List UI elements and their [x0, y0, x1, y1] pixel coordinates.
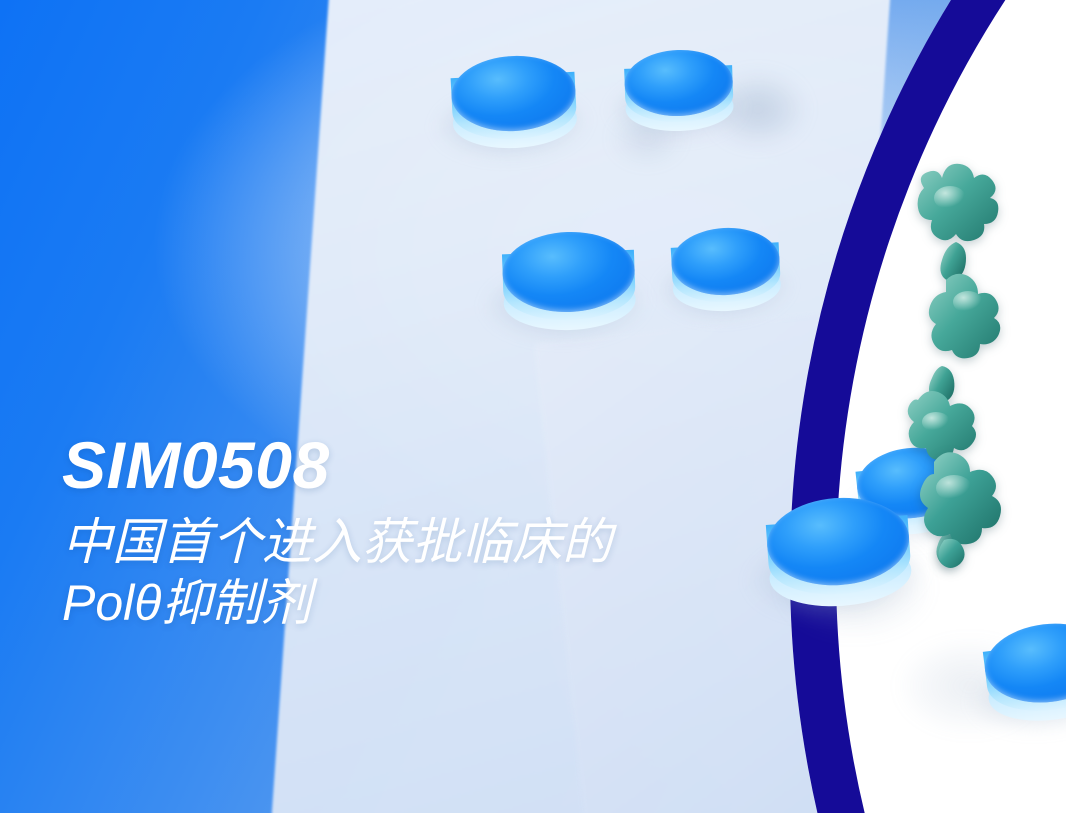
blue-tablet	[980, 617, 1066, 732]
product-code-title: SIM0508	[62, 432, 612, 498]
blue-tablet	[501, 230, 636, 337]
blue-tablet	[624, 48, 735, 136]
promotional-banner: SIM0508 中国首个进入获批临床的 Polθ抑制剂	[0, 0, 1066, 813]
headline-block: SIM0508 中国首个进入获批临床的 Polθ抑制剂	[62, 432, 612, 634]
blue-tablet	[670, 225, 782, 317]
subtitle-line-2: Polθ抑制剂	[62, 573, 612, 634]
subtitle-line-1: 中国首个进入获批临床的	[62, 512, 612, 573]
protein-structure-lower-icon	[900, 440, 1030, 590]
subtitle: 中国首个进入获批临床的 Polθ抑制剂	[62, 512, 612, 634]
blue-tablet	[450, 53, 579, 155]
